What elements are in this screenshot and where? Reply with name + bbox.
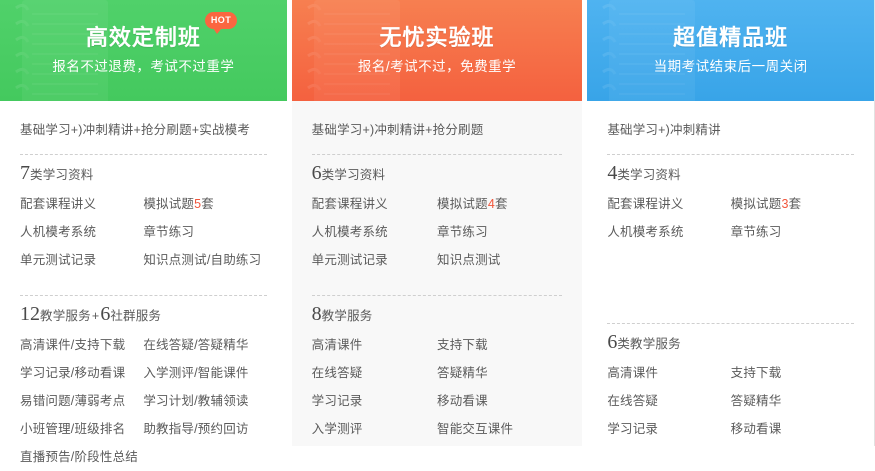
section-count: 6	[312, 162, 322, 184]
section-count: 12	[20, 303, 40, 325]
plan-body-worry-free-experiment: 基础学习+)冲刺精讲+抢分刷题 6类学习资料 配套课程讲义 模拟试题4套 人机模…	[292, 101, 583, 446]
plan-section-materials: 6类学习资料 配套课程讲义 模拟试题4套 人机模考系统 章节练习 单元测试记录 …	[312, 155, 563, 274]
section-count: 4	[607, 162, 617, 184]
plan-title: 无忧实验班	[379, 27, 494, 49]
notebook-decoration-icon	[2, 0, 127, 101]
feature-item-suffix: 套	[201, 197, 214, 211]
feature-item: 移动看课	[437, 387, 562, 415]
plan-subtitle: 报名/考试不过，免费重学	[358, 60, 516, 74]
section-count: 8	[312, 303, 322, 325]
spacer	[312, 274, 563, 286]
hot-badge-tail-icon	[213, 28, 222, 34]
plan-section-materials: 7类学习资料 配套课程讲义 模拟试题5套 人机模考系统 章节练习 单元测试记录 …	[20, 155, 267, 274]
feature-item: 配套课程讲义	[312, 190, 437, 218]
feature-item: 知识点测试	[437, 246, 562, 274]
feature-item-highlight: 4	[488, 197, 495, 211]
feature-grid: 高清课件/支持下载 在线答疑/答疑精华 学习记录/移动看课 入学测评/智能课件 …	[20, 331, 267, 471]
section-label-2: 社群服务	[110, 309, 161, 323]
feature-item-suffix: 套	[789, 197, 802, 211]
feature-item: 学习记录/移动看课	[20, 359, 143, 387]
section-count: 6	[607, 331, 617, 353]
feature-item-highlight: 3	[781, 197, 788, 211]
feature-item: 学习记录	[312, 387, 437, 415]
feature-item: 答疑精华	[731, 387, 854, 415]
section-label: 教学服务	[40, 309, 91, 323]
section-heading: 12教学服务+6社群服务	[20, 303, 267, 331]
feature-item: 模拟试题4套	[437, 190, 562, 218]
section-count-2: 6	[100, 303, 110, 325]
feature-item: 配套课程讲义	[20, 190, 143, 218]
notebook-decoration-icon	[294, 0, 419, 101]
plan-section-services: 12教学服务+6社群服务 高清课件/支持下载 在线答疑/答疑精华 学习记录/移动…	[20, 296, 267, 471]
feature-item: 答疑精华	[437, 359, 562, 387]
section-label: 类学习资料	[617, 168, 681, 182]
feature-item-text: 模拟试题	[143, 197, 194, 211]
plan-title: 超值精品班	[673, 27, 788, 49]
feature-item	[143, 443, 266, 471]
section-plus: +	[91, 309, 101, 323]
plan-path: 基础学习+)冲刺精讲+抢分刷题+实战模考	[20, 115, 267, 145]
section-label: 类教学服务	[617, 337, 681, 351]
section-label: 教学服务	[322, 309, 373, 323]
plan-subtitle: 当期考试结束后一周关闭	[654, 60, 808, 74]
spacer	[607, 246, 854, 314]
section-heading: 6类教学服务	[607, 331, 854, 359]
feature-item: 学习计划/教辅领读	[143, 387, 266, 415]
feature-item: 人机模考系统	[20, 218, 143, 246]
feature-item: 模拟试题5套	[143, 190, 266, 218]
plan-column-value-premium[interactable]: 超值精品班 当期考试结束后一周关闭 基础学习+)冲刺精讲 4类学习资料 配套课程…	[587, 0, 875, 446]
feature-item: 模拟试题3套	[731, 190, 854, 218]
feature-item: 在线答疑/答疑精华	[143, 331, 266, 359]
spacer	[20, 274, 267, 286]
feature-item: 小班管理/班级排名	[20, 415, 143, 443]
plan-header-efficient-custom: 高效定制班 报名不过退费，考试不过重学 HOT	[0, 0, 287, 101]
feature-item: 章节练习	[143, 218, 266, 246]
section-count: 7	[20, 162, 30, 184]
section-heading: 8教学服务	[312, 303, 563, 331]
feature-item: 单元测试记录	[20, 246, 143, 274]
feature-item: 助教指导/预约回访	[143, 415, 266, 443]
plan-path: 基础学习+)冲刺精讲	[607, 115, 854, 145]
feature-item: 支持下载	[437, 331, 562, 359]
feature-item: 在线答疑	[312, 359, 437, 387]
feature-item: 人机模考系统	[607, 218, 730, 246]
feature-grid: 配套课程讲义 模拟试题5套 人机模考系统 章节练习 单元测试记录 知识点测试/自…	[20, 190, 267, 274]
section-heading: 7类学习资料	[20, 162, 267, 190]
feature-item: 入学测评	[312, 415, 437, 443]
feature-item: 学习记录	[607, 415, 730, 443]
plan-section-materials: 4类学习资料 配套课程讲义 模拟试题3套 人机模考系统 章节练习	[607, 155, 854, 246]
feature-item: 配套课程讲义	[607, 190, 730, 218]
feature-grid: 配套课程讲义 模拟试题3套 人机模考系统 章节练习	[607, 190, 854, 246]
feature-item-suffix: 套	[495, 197, 508, 211]
feature-grid: 配套课程讲义 模拟试题4套 人机模考系统 章节练习 单元测试记录 知识点测试	[312, 190, 563, 274]
feature-item: 知识点测试/自助练习	[143, 246, 266, 274]
feature-item: 高清课件	[312, 331, 437, 359]
plan-section-services: 6类教学服务 高清课件 支持下载 在线答疑 答疑精华 学习记录 移动看课	[607, 324, 854, 443]
feature-item: 移动看课	[731, 415, 854, 443]
hot-badge-label: HOT	[211, 16, 231, 25]
plan-column-worry-free-experiment[interactable]: 无忧实验班 报名/考试不过，免费重学 基础学习+)冲刺精讲+抢分刷题 6类学习资…	[292, 0, 583, 446]
feature-item: 高清课件/支持下载	[20, 331, 143, 359]
feature-item: 入学测评/智能课件	[143, 359, 266, 387]
feature-item: 人机模考系统	[312, 218, 437, 246]
plan-header-value-premium: 超值精品班 当期考试结束后一周关闭	[587, 0, 874, 101]
plan-section-services: 8教学服务 高清课件 支持下载 在线答疑 答疑精华 学习记录 移动看课 入学测评…	[312, 296, 563, 443]
feature-item: 支持下载	[731, 359, 854, 387]
feature-item-text: 模拟试题	[437, 197, 488, 211]
hot-badge: HOT	[205, 12, 237, 29]
feature-item: 在线答疑	[607, 387, 730, 415]
feature-item: 高清课件	[607, 359, 730, 387]
plan-path: 基础学习+)冲刺精讲+抢分刷题	[312, 115, 563, 145]
feature-item: 章节练习	[437, 218, 562, 246]
pricing-plan-comparison: 高效定制班 报名不过退费，考试不过重学 HOT 基础学习+)冲刺精讲+抢分刷题+…	[0, 0, 875, 446]
section-heading: 4类学习资料	[607, 162, 854, 190]
feature-item: 易错问题/薄弱考点	[20, 387, 143, 415]
plan-subtitle: 报名不过退费，考试不过重学	[52, 60, 234, 74]
feature-item: 章节练习	[731, 218, 854, 246]
section-heading: 6类学习资料	[312, 162, 563, 190]
feature-grid: 高清课件 支持下载 在线答疑 答疑精华 学习记录 移动看课	[607, 359, 854, 443]
plan-body-value-premium: 基础学习+)冲刺精讲 4类学习资料 配套课程讲义 模拟试题3套 人机模考系统 章…	[587, 101, 874, 446]
plan-column-efficient-custom[interactable]: 高效定制班 报名不过退费，考试不过重学 HOT 基础学习+)冲刺精讲+抢分刷题+…	[0, 0, 287, 446]
plan-body-efficient-custom: 基础学习+)冲刺精讲+抢分刷题+实战模考 7类学习资料 配套课程讲义 模拟试题5…	[0, 101, 287, 471]
notebook-decoration-icon	[589, 0, 714, 101]
feature-item: 智能交互课件	[437, 415, 562, 443]
section-label: 类学习资料	[322, 168, 386, 182]
feature-grid: 高清课件 支持下载 在线答疑 答疑精华 学习记录 移动看课 入学测评 智能交互课…	[312, 331, 563, 443]
feature-item: 直播预告/阶段性总结	[20, 443, 143, 471]
section-label: 类学习资料	[30, 168, 94, 182]
plan-header-worry-free-experiment: 无忧实验班 报名/考试不过，免费重学	[292, 0, 583, 101]
feature-item-text: 模拟试题	[731, 197, 782, 211]
plan-title: 高效定制班	[86, 27, 201, 49]
feature-item: 单元测试记录	[312, 246, 437, 274]
